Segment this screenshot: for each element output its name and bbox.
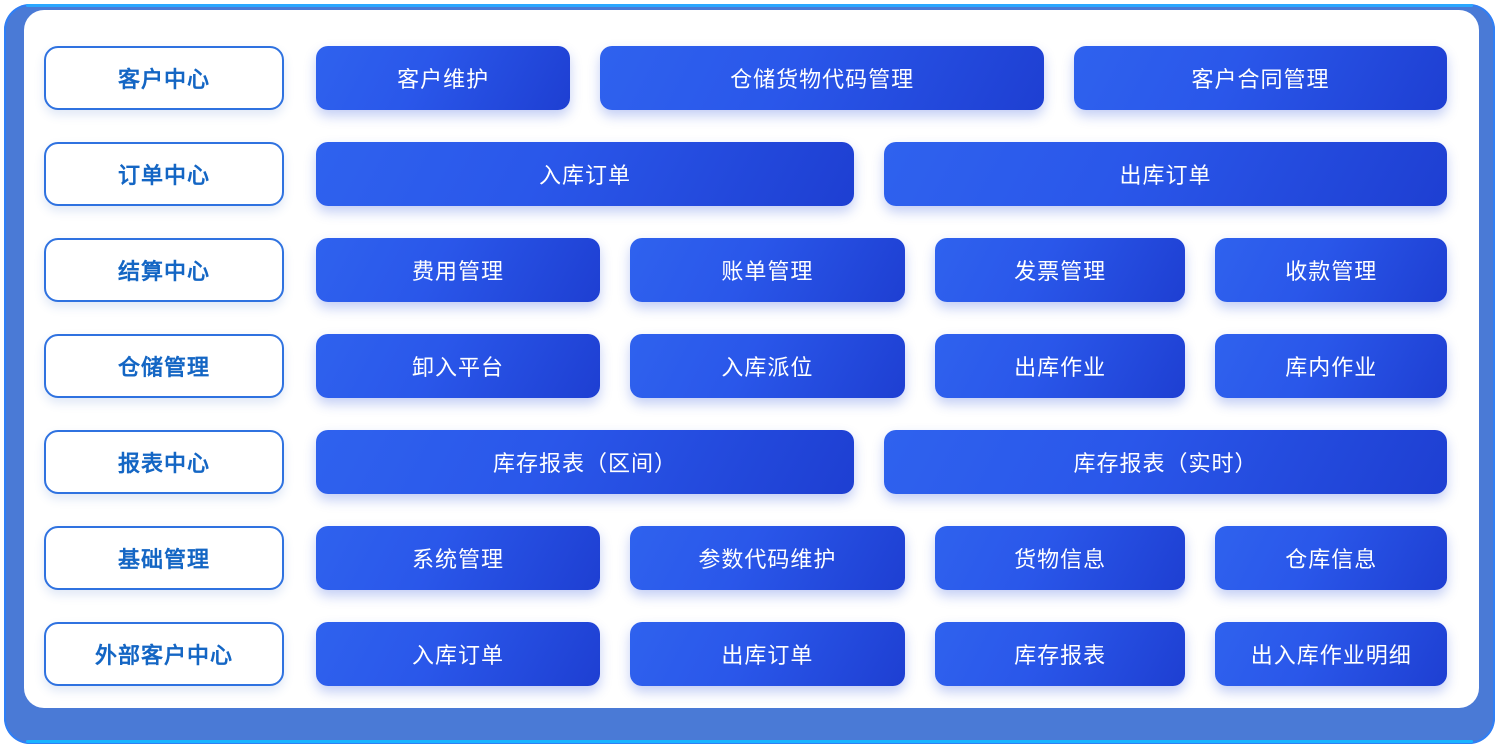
menu-button[interactable]: 客户维护	[316, 46, 570, 110]
menu-button[interactable]: 库存报表（区间）	[316, 430, 854, 494]
menu-button[interactable]: 库存报表（实时）	[884, 430, 1447, 494]
menu-button-label: 库内作业	[1285, 350, 1377, 382]
menu-button-label: 客户合同管理	[1192, 62, 1330, 94]
menu-button-group: 入库订单出库订单	[316, 126, 1447, 222]
menu-button-label: 参数代码维护	[698, 542, 836, 574]
menu-button[interactable]: 客户合同管理	[1074, 46, 1447, 110]
menu-row: 客户中心客户维护仓储货物代码管理客户合同管理	[24, 30, 1479, 126]
category-pill[interactable]: 外部客户中心	[44, 622, 284, 686]
menu-button-label: 入库派位	[721, 350, 813, 382]
menu-button-label: 入库订单	[412, 638, 504, 670]
menu-card: 客户中心客户维护仓储货物代码管理客户合同管理订单中心入库订单出库订单结算中心费用…	[24, 10, 1479, 708]
menu-button-label: 费用管理	[412, 254, 504, 286]
category-pill-label: 基础管理	[118, 542, 210, 574]
menu-button-label: 出库作业	[1014, 350, 1106, 382]
category-pill[interactable]: 订单中心	[44, 142, 284, 206]
category-pill-label: 外部客户中心	[95, 638, 233, 670]
menu-button[interactable]: 卸入平台	[316, 334, 600, 398]
menu-button-label: 库存报表	[1014, 638, 1106, 670]
menu-button[interactable]: 货物信息	[935, 526, 1186, 590]
menu-button[interactable]: 费用管理	[316, 238, 600, 302]
category-pill[interactable]: 报表中心	[44, 430, 284, 494]
menu-button-label: 出库订单	[1119, 158, 1211, 190]
menu-button-label: 客户维护	[397, 62, 489, 94]
menu-button[interactable]: 收款管理	[1215, 238, 1447, 302]
menu-row: 订单中心入库订单出库订单	[24, 126, 1479, 222]
menu-button-label: 货物信息	[1014, 542, 1106, 574]
menu-button-label: 卸入平台	[412, 350, 504, 382]
menu-button[interactable]: 出库订单	[884, 142, 1447, 206]
category-pill[interactable]: 基础管理	[44, 526, 284, 590]
menu-button-group: 费用管理账单管理发票管理收款管理	[316, 222, 1447, 318]
menu-button[interactable]: 入库派位	[630, 334, 905, 398]
menu-button-label: 入库订单	[539, 158, 631, 190]
category-pill-label: 报表中心	[118, 446, 210, 478]
menu-button-label: 仓库信息	[1285, 542, 1377, 574]
menu-button[interactable]: 出入库作业明细	[1215, 622, 1447, 686]
menu-button[interactable]: 参数代码维护	[630, 526, 905, 590]
menu-row: 报表中心库存报表（区间）库存报表（实时）	[24, 414, 1479, 510]
menu-button-label: 出库订单	[721, 638, 813, 670]
menu-button[interactable]: 账单管理	[630, 238, 905, 302]
menu-button[interactable]: 仓储货物代码管理	[600, 46, 1044, 110]
menu-button-label: 库存报表（实时）	[1073, 446, 1257, 478]
menu-button-group: 客户维护仓储货物代码管理客户合同管理	[316, 30, 1447, 126]
menu-button[interactable]: 入库订单	[316, 622, 600, 686]
menu-button-group: 卸入平台入库派位出库作业库内作业	[316, 318, 1447, 414]
menu-button-label: 收款管理	[1285, 254, 1377, 286]
menu-button-label: 库存报表（区间）	[493, 446, 677, 478]
menu-button[interactable]: 出库作业	[935, 334, 1186, 398]
menu-button-label: 仓储货物代码管理	[730, 62, 914, 94]
menu-button-label: 账单管理	[721, 254, 813, 286]
menu-button[interactable]: 发票管理	[935, 238, 1186, 302]
menu-button-label: 系统管理	[412, 542, 504, 574]
category-pill-label: 客户中心	[118, 62, 210, 94]
menu-button-label: 发票管理	[1014, 254, 1106, 286]
menu-row: 基础管理系统管理参数代码维护货物信息仓库信息	[24, 510, 1479, 606]
menu-button[interactable]: 仓库信息	[1215, 526, 1447, 590]
category-pill-label: 仓储管理	[118, 350, 210, 382]
menu-row: 外部客户中心入库订单出库订单库存报表出入库作业明细	[24, 606, 1479, 702]
frame-accent-line-top	[26, 4, 1473, 7]
category-pill[interactable]: 仓储管理	[44, 334, 284, 398]
menu-button[interactable]: 库存报表	[935, 622, 1186, 686]
category-pill[interactable]: 客户中心	[44, 46, 284, 110]
menu-button[interactable]: 库内作业	[1215, 334, 1447, 398]
frame-accent-line-bottom	[26, 740, 1473, 743]
menu-button-group: 系统管理参数代码维护货物信息仓库信息	[316, 510, 1447, 606]
menu-row: 结算中心费用管理账单管理发票管理收款管理	[24, 222, 1479, 318]
menu-button[interactable]: 入库订单	[316, 142, 854, 206]
menu-button[interactable]: 出库订单	[630, 622, 905, 686]
category-pill[interactable]: 结算中心	[44, 238, 284, 302]
menu-button-group: 库存报表（区间）库存报表（实时）	[316, 414, 1447, 510]
category-pill-label: 订单中心	[118, 158, 210, 190]
menu-button-label: 出入库作业明细	[1251, 638, 1412, 670]
menu-row: 仓储管理卸入平台入库派位出库作业库内作业	[24, 318, 1479, 414]
menu-row-list: 客户中心客户维护仓储货物代码管理客户合同管理订单中心入库订单出库订单结算中心费用…	[24, 10, 1479, 708]
menu-button[interactable]: 系统管理	[316, 526, 600, 590]
menu-button-group: 入库订单出库订单库存报表出入库作业明细	[316, 606, 1447, 702]
category-pill-label: 结算中心	[118, 254, 210, 286]
